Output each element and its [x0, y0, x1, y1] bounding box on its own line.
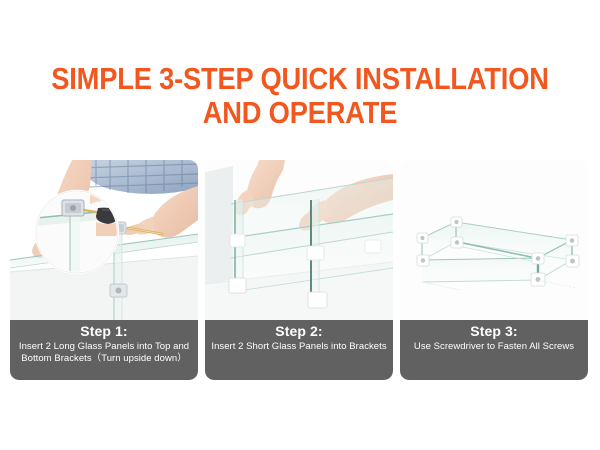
step-1-photo	[10, 160, 198, 320]
step-card-1: Step 1: Insert 2 Long Glass Panels into …	[10, 160, 198, 380]
banner-title-line-1: SIMPLE 3-STEP QUICK INSTALLATION	[36, 62, 564, 96]
step-2-photo	[205, 160, 393, 320]
step-1-description: Insert 2 Long Glass Panels into Top and …	[10, 340, 198, 365]
step-3-label: Step 3:	[400, 323, 588, 340]
step-2-description: Insert 2 Short Glass Panels into Bracket…	[205, 340, 393, 353]
step-card-3: Step 3: Use Screwdriver to Fasten All Sc…	[400, 160, 588, 380]
step-2-caption: Step 2: Insert 2 Short Glass Panels into…	[205, 320, 393, 380]
step-3-photo	[400, 160, 588, 320]
banner-title-line-2: AND OPERATE	[36, 96, 564, 130]
steps-container: Step 1: Insert 2 Long Glass Panels into …	[10, 160, 590, 380]
banner-title: SIMPLE 3-STEP QUICK INSTALLATION AND OPE…	[0, 62, 600, 130]
step-2-label: Step 2:	[205, 323, 393, 340]
step-3-description: Use Screwdriver to Fasten All Screws	[400, 340, 588, 353]
step-3-caption: Step 3: Use Screwdriver to Fasten All Sc…	[400, 320, 588, 380]
step-card-2: Step 2: Insert 2 Short Glass Panels into…	[205, 160, 393, 380]
step-1-caption: Step 1: Insert 2 Long Glass Panels into …	[10, 320, 198, 380]
step-1-label: Step 1:	[10, 323, 198, 340]
